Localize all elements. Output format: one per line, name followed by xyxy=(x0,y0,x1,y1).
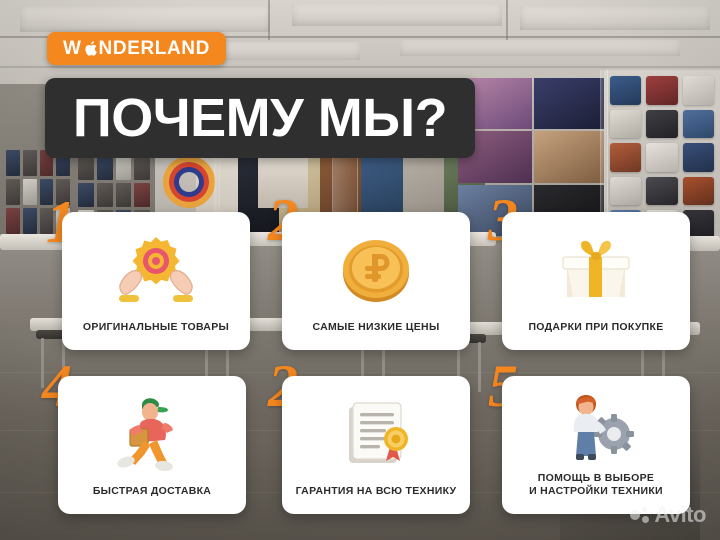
benefit-caption: ОРИГИНАЛЬНЫЕ ТОВАРЫ xyxy=(62,321,250,350)
certificate-document-icon xyxy=(282,376,470,485)
benefit-card-fast-delivery[interactable]: БЫСТРАЯ ДОСТАВКА xyxy=(58,376,246,514)
avito-watermark: Avito xyxy=(630,502,706,528)
avito-label: Avito xyxy=(654,502,706,528)
brand-name-part2: NDERLAND xyxy=(99,38,210,60)
running-courier-icon xyxy=(58,376,246,485)
benefit-caption: ПОДАРКИ ПРИ ПОКУПКЕ xyxy=(502,321,690,350)
page-title: ПОЧЕМУ МЫ? xyxy=(73,91,447,145)
gift-box-icon xyxy=(502,212,690,321)
benefit-caption: БЫСТРАЯ ДОСТАВКА xyxy=(58,485,246,514)
apple-icon xyxy=(83,39,98,58)
brand-name: W NDERLAND xyxy=(63,38,210,60)
hands-with-badge-icon xyxy=(62,212,250,321)
gold-coin-ruble-icon xyxy=(282,212,470,321)
benefit-card-gifts[interactable]: ПОДАРКИ ПРИ ПОКУПКЕ xyxy=(502,212,690,350)
benefit-card-lowest-prices[interactable]: САМЫЕ НИЗКИЕ ЦЕНЫ xyxy=(282,212,470,350)
benefit-card-setup-help[interactable]: ПОМОЩЬ В ВЫБОРЕ И НАСТРОЙКИ ТЕХНИКИ xyxy=(502,376,690,514)
benefit-caption: ГАРАНТИЯ НА ВСЮ ТЕХНИКУ xyxy=(282,485,470,514)
benefit-card-warranty[interactable]: ГАРАНТИЯ НА ВСЮ ТЕХНИКУ xyxy=(282,376,470,514)
brand-logo[interactable]: W NDERLAND xyxy=(47,32,226,65)
promo-banner: W NDERLAND ПОЧЕМУ МЫ? 1 2 3 4 2 5 xyxy=(0,0,720,540)
brand-name-part1: W xyxy=(63,38,82,60)
person-with-gear-icon xyxy=(502,376,690,472)
headline-banner: ПОЧЕМУ МЫ? xyxy=(45,78,475,158)
benefit-card-original-goods[interactable]: ОРИГИНАЛЬНЫЕ ТОВАРЫ xyxy=(62,212,250,350)
avito-dots-icon xyxy=(630,506,648,524)
benefit-caption: САМЫЕ НИЗКИЕ ЦЕНЫ xyxy=(282,321,470,350)
